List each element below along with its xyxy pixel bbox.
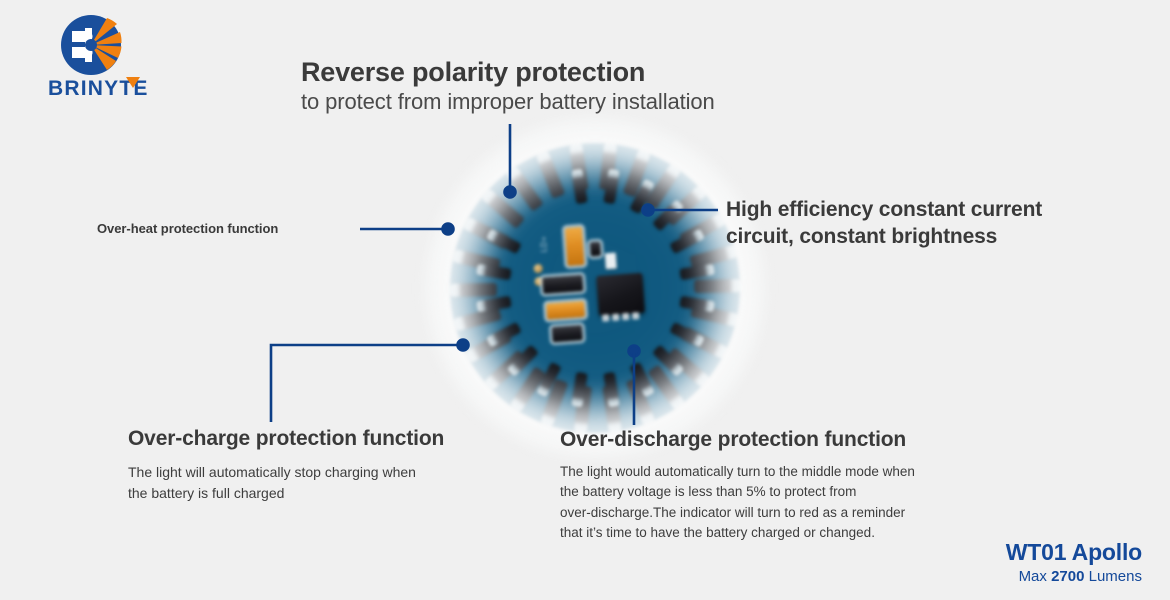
callout-over-discharge-title: Over-discharge protection function — [560, 427, 1000, 454]
pcb-solder-pad — [463, 217, 510, 249]
pcb-solder-pad — [622, 149, 650, 197]
pcb-solder-pad — [629, 179, 654, 214]
pcb-solder-pad — [486, 322, 521, 347]
product-badge: WT01 Apollo Max 2700 Lumens — [1006, 539, 1142, 586]
pcb-solder-pad — [573, 386, 591, 433]
callout-over-discharge-body-line1: The light would automatically turn to th… — [560, 462, 1000, 483]
pcb-solder-pad — [645, 164, 681, 209]
callout-over-charge-title: Over-charge protection function — [128, 426, 548, 453]
pcb-capacitor — [565, 227, 585, 266]
pcb-solder-pad — [452, 249, 500, 272]
callout-high-efficiency-line1: High efficiency constant current — [726, 197, 1126, 224]
pcb-solder-pad — [540, 379, 568, 427]
pcb-capacitor — [546, 301, 585, 320]
pcb-solder-pad — [652, 345, 684, 377]
pcb-ic-chip — [596, 273, 645, 316]
pcb-solder-pad — [602, 385, 621, 432]
callout-over-discharge-body-line3: over-discharge.The indicator will turn t… — [560, 503, 1000, 524]
pcb-solder-pad — [690, 304, 738, 327]
pcb-solder-pad — [476, 296, 511, 312]
brand-logo: BRINYTE — [48, 14, 198, 110]
pcb-solder-pad — [679, 264, 714, 280]
callout-over-heat: Over-heat protection function — [97, 221, 357, 236]
logo-triangle-accent-icon — [126, 77, 140, 88]
pcb-solder-pad — [506, 345, 538, 377]
pcb-solder-pad — [484, 350, 527, 391]
pcb-resistor — [552, 325, 583, 342]
lumens-prefix: Max — [1019, 568, 1052, 585]
product-lumens: Max 2700 Lumens — [1006, 567, 1142, 587]
pcb-solder-pad — [669, 322, 704, 347]
pcb-solder-pad — [666, 348, 709, 388]
pcb-solder-pad — [509, 367, 545, 412]
callout-over-heat-title: Over-heat protection function — [97, 221, 357, 236]
pcb-connector — [605, 253, 617, 270]
pcb-solder-pad — [626, 378, 655, 426]
pcb-solder-pad — [679, 296, 714, 312]
pcb-resistor — [542, 275, 583, 294]
pcb-solder-pad — [450, 283, 496, 297]
pcb-solder-pad — [571, 169, 587, 204]
pcb-solder-pad — [652, 199, 684, 231]
pcb-via — [533, 264, 543, 274]
callout-over-charge: Over-charge protection function The ligh… — [128, 426, 548, 504]
callout-reverse-polarity-subtitle: to protect from improper battery install… — [301, 88, 821, 116]
callout-over-discharge-body-line4: that it’s time to have the battery charg… — [560, 523, 1000, 544]
pcb-solder-pad — [453, 307, 501, 331]
driver-pcb-image: LD+ — [425, 118, 765, 458]
pcb-via — [534, 277, 544, 287]
pcb-silkscreen-label: LD+ — [540, 236, 549, 252]
product-name: WT01 Apollo — [1006, 539, 1142, 565]
pcb-solder-pad — [680, 327, 727, 359]
infographic-page: BRINYTE LD+ — [0, 0, 1170, 600]
lumens-value: 2700 — [1051, 568, 1084, 585]
callout-over-charge-body-line1: The light will automatically stop chargi… — [128, 462, 548, 483]
pcb-resistor — [590, 242, 601, 257]
pcb-solder-pad — [536, 362, 561, 397]
pcb-solder-pad — [599, 143, 617, 190]
callout-high-efficiency: High efficiency constant current circuit… — [726, 197, 1126, 251]
callout-high-efficiency-line2: circuit, constant brightness — [726, 224, 1126, 251]
pcb-solder-pad — [669, 229, 704, 254]
pcb-solder-pad — [664, 185, 707, 226]
lumens-suffix: Lumens — [1084, 568, 1142, 585]
pcb-solder-pad — [465, 330, 512, 363]
pcb-solder-pad — [629, 362, 654, 397]
pcb-solder-pad — [486, 229, 521, 254]
pcb-solder-pad — [569, 143, 588, 190]
brinyte-sunburst-logo-icon — [60, 14, 122, 76]
pcb-solder-pad — [505, 166, 542, 211]
brand-wordmark: BRINYTE — [48, 76, 198, 102]
pcb-solder-pad — [694, 279, 740, 293]
pcb-solder-pad — [603, 372, 619, 407]
callout-over-charge-body-line2: the battery is full charged — [128, 483, 548, 504]
pcb-solder-pad — [481, 189, 524, 229]
pcb-solder-pad — [603, 169, 619, 204]
callout-reverse-polarity: Reverse polarity protection to protect f… — [301, 56, 821, 116]
callout-over-discharge-body-line2: the battery voltage is less than 5% to p… — [560, 482, 1000, 503]
pcb-board: LD+ — [450, 143, 740, 433]
callout-over-discharge: Over-discharge protection function The l… — [560, 427, 1000, 544]
callout-reverse-polarity-title: Reverse polarity protection — [301, 56, 821, 88]
pcb-solder-pad — [476, 264, 511, 280]
pcb-solder-pad — [571, 372, 587, 407]
pcb-component-cluster: LD+ — [529, 216, 666, 357]
pcb-solder-pad — [679, 213, 726, 246]
pcb-solder-pad — [535, 151, 564, 199]
pcb-solder-pad — [647, 365, 684, 410]
